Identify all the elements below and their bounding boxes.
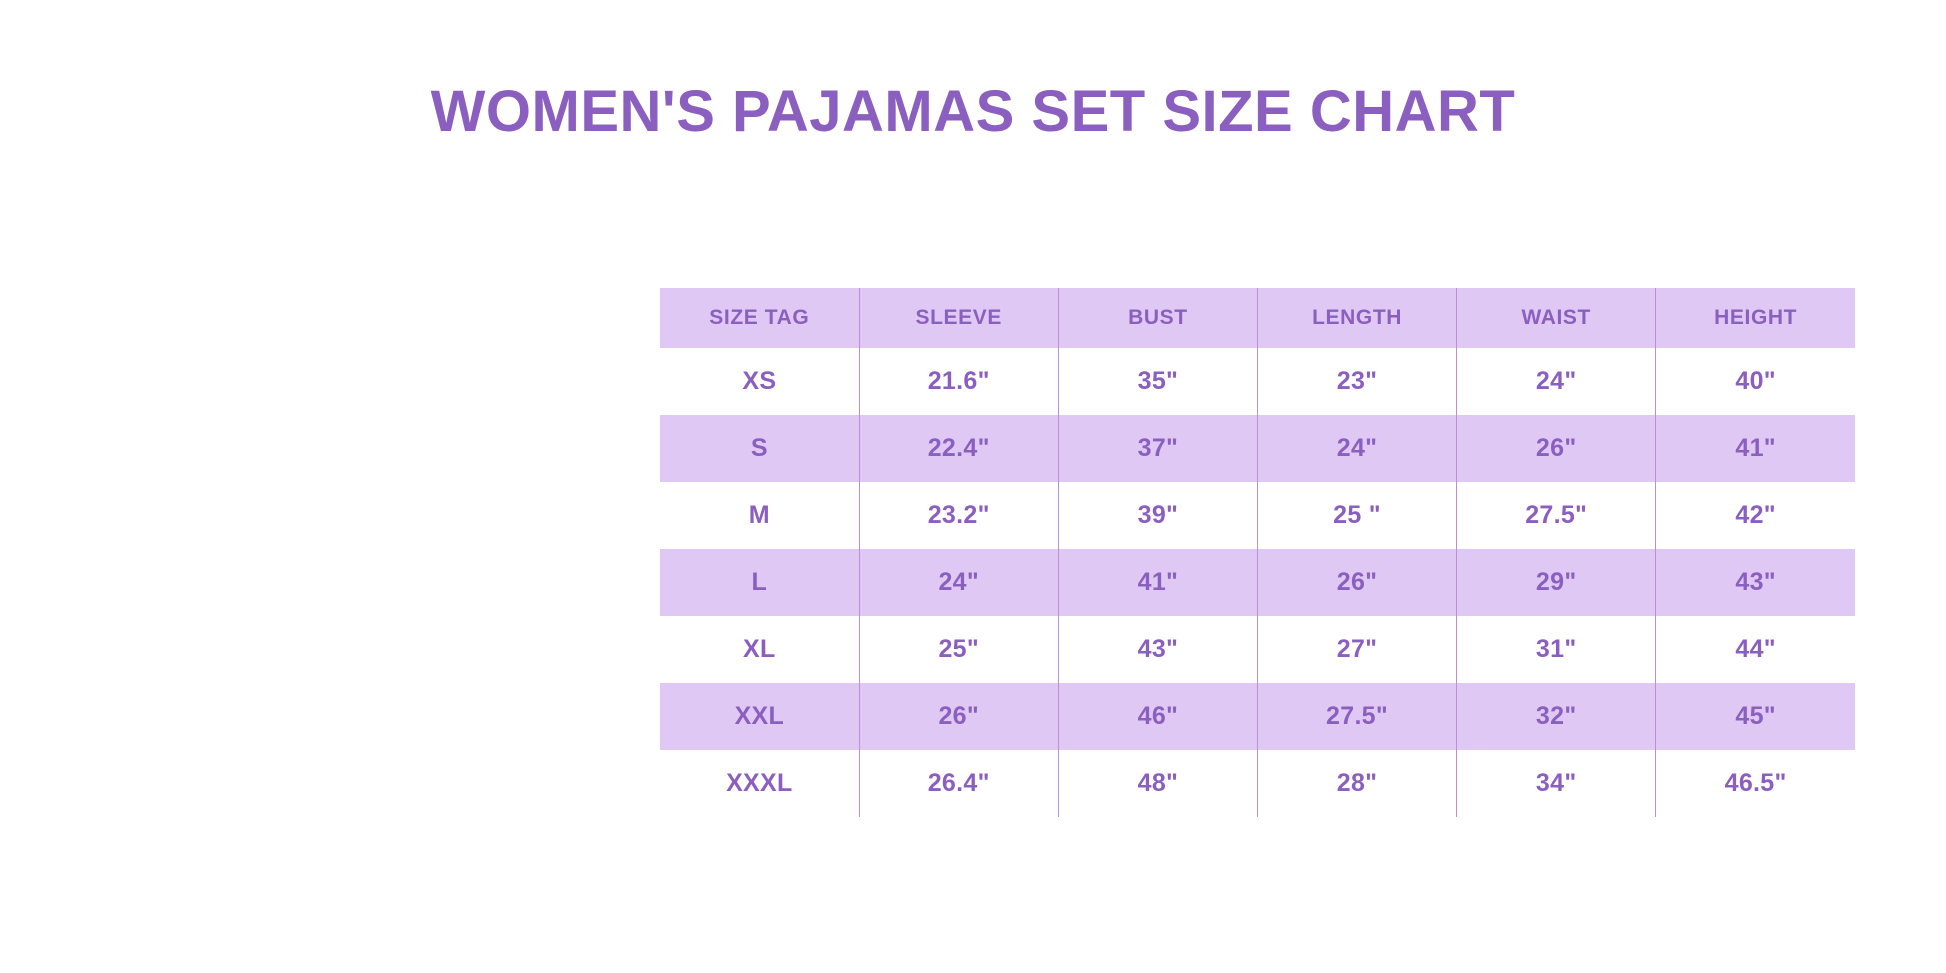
- page-title: WOMEN'S PAJAMAS SET SIZE CHART: [0, 78, 1946, 145]
- table-row: XS 21.6" 35" 23" 24" 40": [660, 348, 1855, 415]
- cell-length: 25 ": [1257, 482, 1456, 549]
- column-header-sleeve: SLEEVE: [859, 288, 1058, 348]
- cell-waist: 27.5": [1457, 482, 1656, 549]
- column-header-bust: BUST: [1058, 288, 1257, 348]
- cell-height: 41": [1656, 415, 1855, 482]
- table-header: SIZE TAG SLEEVE BUST LENGTH WAIST HEIGHT: [660, 288, 1855, 348]
- table-row: XXXL 26.4" 48" 28" 34" 46.5": [660, 750, 1855, 817]
- table-row: M 23.2" 39" 25 " 27.5" 42": [660, 482, 1855, 549]
- cell-length: 27": [1257, 616, 1456, 683]
- cell-height: 40": [1656, 348, 1855, 415]
- cell-height: 44": [1656, 616, 1855, 683]
- cell-sleeve: 26.4": [859, 750, 1058, 817]
- cell-sleeve: 24": [859, 549, 1058, 616]
- cell-size-tag: L: [660, 549, 859, 616]
- cell-length: 27.5": [1257, 683, 1456, 750]
- table-row: S 22.4" 37" 24" 26" 41": [660, 415, 1855, 482]
- cell-size-tag: XXL: [660, 683, 859, 750]
- cell-sleeve: 26": [859, 683, 1058, 750]
- cell-length: 26": [1257, 549, 1456, 616]
- cell-waist: 29": [1457, 549, 1656, 616]
- cell-waist: 34": [1457, 750, 1656, 817]
- cell-length: 28": [1257, 750, 1456, 817]
- cell-height: 42": [1656, 482, 1855, 549]
- cell-sleeve: 22.4": [859, 415, 1058, 482]
- column-header-waist: WAIST: [1457, 288, 1656, 348]
- cell-size-tag: XS: [660, 348, 859, 415]
- cell-bust: 46": [1058, 683, 1257, 750]
- table-header-row: SIZE TAG SLEEVE BUST LENGTH WAIST HEIGHT: [660, 288, 1855, 348]
- table-body: XS 21.6" 35" 23" 24" 40" S 22.4" 37" 24"…: [660, 348, 1855, 817]
- size-chart-table: SIZE TAG SLEEVE BUST LENGTH WAIST HEIGHT…: [660, 288, 1855, 817]
- size-chart-table-container: SIZE TAG SLEEVE BUST LENGTH WAIST HEIGHT…: [660, 288, 1855, 817]
- size-chart-page: WOMEN'S PAJAMAS SET SIZE CHART SIZE TAG …: [0, 0, 1946, 973]
- cell-length: 24": [1257, 415, 1456, 482]
- column-header-height: HEIGHT: [1656, 288, 1855, 348]
- cell-waist: 31": [1457, 616, 1656, 683]
- cell-height: 43": [1656, 549, 1855, 616]
- table-row: XXL 26" 46" 27.5" 32" 45": [660, 683, 1855, 750]
- column-header-size-tag: SIZE TAG: [660, 288, 859, 348]
- column-header-length: LENGTH: [1257, 288, 1456, 348]
- table-row: XL 25" 43" 27" 31" 44": [660, 616, 1855, 683]
- cell-height: 45": [1656, 683, 1855, 750]
- cell-bust: 37": [1058, 415, 1257, 482]
- cell-length: 23": [1257, 348, 1456, 415]
- cell-size-tag: S: [660, 415, 859, 482]
- cell-bust: 43": [1058, 616, 1257, 683]
- cell-sleeve: 23.2": [859, 482, 1058, 549]
- cell-size-tag: XXXL: [660, 750, 859, 817]
- cell-size-tag: M: [660, 482, 859, 549]
- cell-height: 46.5": [1656, 750, 1855, 817]
- cell-bust: 48": [1058, 750, 1257, 817]
- cell-waist: 32": [1457, 683, 1656, 750]
- cell-bust: 39": [1058, 482, 1257, 549]
- cell-bust: 35": [1058, 348, 1257, 415]
- cell-bust: 41": [1058, 549, 1257, 616]
- cell-sleeve: 21.6": [859, 348, 1058, 415]
- cell-waist: 26": [1457, 415, 1656, 482]
- table-row: L 24" 41" 26" 29" 43": [660, 549, 1855, 616]
- cell-waist: 24": [1457, 348, 1656, 415]
- cell-size-tag: XL: [660, 616, 859, 683]
- cell-sleeve: 25": [859, 616, 1058, 683]
